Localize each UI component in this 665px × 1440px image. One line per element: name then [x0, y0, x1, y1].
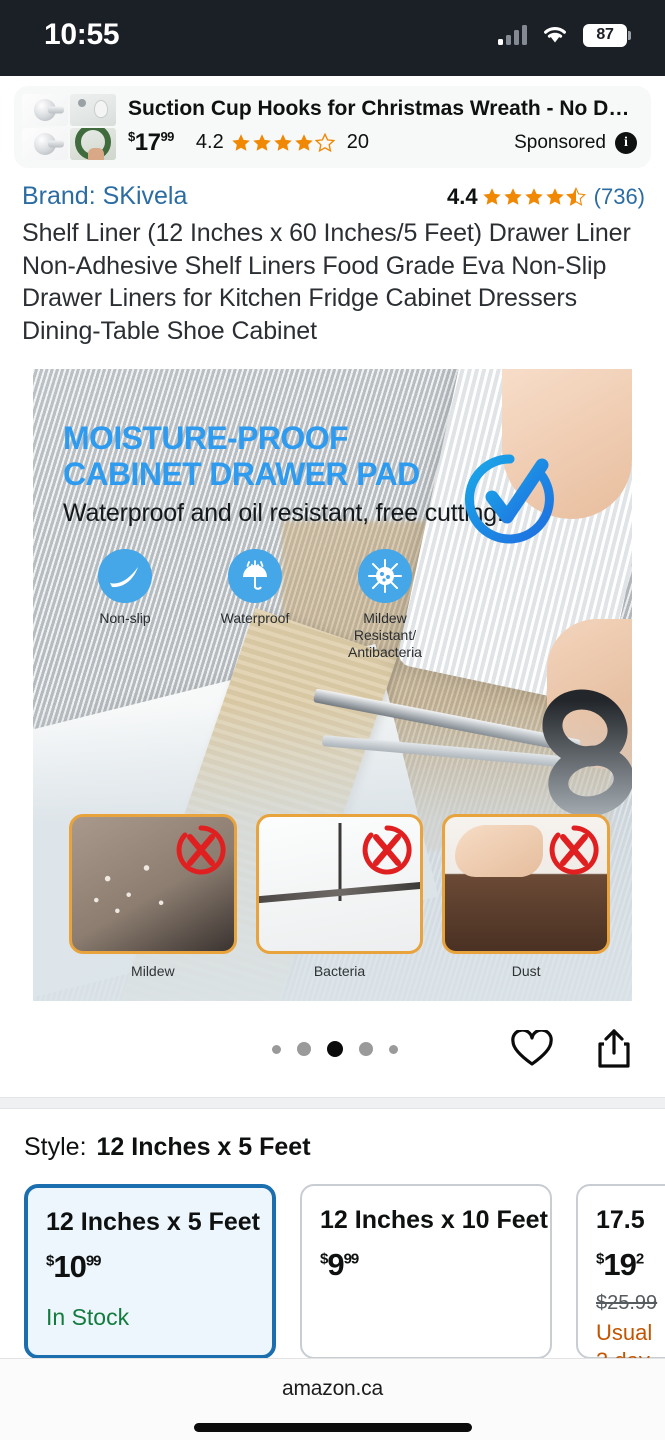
style-option-price: $999 — [320, 1247, 532, 1283]
umbrella-rain-icon — [228, 549, 282, 603]
carousel-dot[interactable] — [359, 1042, 373, 1056]
sponsored-label: Sponsored — [514, 132, 606, 154]
sponsored-ad-container[interactable]: Suction Cup Hooks for Christmas Wreath -… — [0, 76, 665, 168]
product-star-rating — [482, 187, 586, 207]
hero-problem-label: Bacteria — [256, 963, 424, 979]
ad-star-rating — [231, 133, 335, 153]
carousel-dots[interactable] — [272, 1041, 398, 1057]
cellular-signal-icon — [498, 25, 527, 45]
non-slip-icon — [98, 549, 152, 603]
style-option-list[interactable]: 12 Inches x 5 Feet $1099 In Stock 12 Inc… — [0, 1162, 665, 1359]
style-header: Style:12 Inches x 5 Feet — [0, 1133, 665, 1162]
hero-headline-line1: MOISTURE-PROOF — [63, 421, 420, 457]
style-option-price: $192 — [596, 1247, 665, 1283]
section-divider — [0, 1097, 665, 1109]
hero-problem-photo-mildew — [69, 814, 237, 954]
product-rating-value: 4.4 — [447, 184, 478, 210]
carousel-dot[interactable] — [297, 1042, 311, 1056]
product-thumbnail-wall — [70, 94, 116, 126]
hero-feature-item: Mildew Resistant/Antibacteria — [339, 549, 431, 660]
hero-problem-label: Dust — [442, 963, 610, 979]
ad-price: $1799 — [128, 129, 174, 157]
wifi-icon — [540, 22, 570, 49]
product-thumbnail-wreath — [70, 128, 116, 160]
hero-feature-list: Non-slip Waterproof — [79, 549, 431, 660]
hero-headline: MOISTURE-PROOF CABINET DRAWER PAD — [63, 421, 420, 493]
hero-problem-list: Mildew Bacteria — [69, 814, 610, 979]
red-x-icon — [174, 823, 228, 877]
hero-feature-label: Mildew Resistant/Antibacteria — [339, 610, 431, 660]
carousel-dot[interactable] — [272, 1045, 281, 1054]
ad-body: Suction Cup Hooks for Christmas Wreath -… — [128, 94, 637, 160]
product-hero-image[interactable]: MOISTURE-PROOF CABINET DRAWER PAD Waterp… — [33, 369, 632, 1001]
style-option-card-selected[interactable]: 12 Inches x 5 Feet $1099 In Stock — [24, 1184, 276, 1359]
hero-feature-label: Non-slip — [79, 610, 171, 627]
heart-icon[interactable] — [511, 1028, 553, 1070]
ad-rating: 4.2 20 — [196, 131, 369, 154]
hero-feature-item: Waterproof — [209, 549, 301, 660]
page-title: Shelf Liner (12 Inches x 60 Inches/5 Fee… — [0, 211, 665, 347]
browser-footer: amazon.ca — [0, 1358, 665, 1440]
hero-feature-item: Non-slip — [79, 549, 171, 660]
battery-icon: 87 — [583, 24, 631, 47]
status-bar-indicators: 87 — [498, 22, 631, 49]
share-icon[interactable] — [593, 1028, 635, 1070]
style-label: Style: — [24, 1133, 87, 1161]
style-option-card[interactable]: 12 Inches x 10 Feet $999 — [300, 1184, 552, 1359]
hero-problem-photo-dust — [442, 814, 610, 954]
status-bar-clock: 10:55 — [34, 18, 119, 52]
home-indicator[interactable] — [194, 1423, 472, 1432]
ad-review-count: 20 — [347, 131, 369, 154]
sponsored-label-group[interactable]: Sponsored i — [514, 132, 637, 154]
style-option-delivery: Usual3 day — [596, 1319, 665, 1359]
hero-feature-label: Waterproof — [209, 610, 301, 627]
style-option-name: 12 Inches x 5 Feet — [46, 1208, 254, 1237]
carousel-dot-active[interactable] — [327, 1041, 343, 1057]
carousel-dot[interactable] — [389, 1045, 398, 1054]
product-thumbnail-hook-2 — [22, 128, 68, 160]
battery-percent: 87 — [596, 26, 613, 44]
status-bar: 10:55 87 — [0, 0, 665, 76]
ad-thumbnail-grid — [22, 94, 116, 160]
style-option-was-price: $25.99 — [596, 1292, 665, 1315]
product-rating-group[interactable]: 4.4 (736) — [447, 184, 645, 210]
hero-headline-line2: CABINET DRAWER PAD — [63, 457, 420, 493]
style-selected-value: 12 Inches x 5 Feet — [97, 1133, 311, 1161]
hero-problem-item: Mildew — [69, 814, 237, 979]
carousel-controls — [0, 1001, 665, 1097]
red-x-icon — [547, 823, 601, 877]
style-option-name: 12 Inches x 10 Feet — [320, 1206, 532, 1235]
hero-problem-photo-bacteria — [256, 814, 424, 954]
style-option-card[interactable]: 17.5 $192 $25.99 Usual3 day — [576, 1184, 665, 1359]
style-option-price: $1099 — [46, 1249, 254, 1285]
hero-problem-item: Bacteria — [256, 814, 424, 979]
hero-subhead: Waterproof and oil resistant, free cutti… — [63, 499, 504, 528]
ad-rating-value: 4.2 — [196, 131, 224, 154]
ad-title[interactable]: Suction Cup Hooks for Christmas Wreath -… — [128, 97, 637, 121]
ad-meta-row: $1799 4.2 20 Sponsored i — [128, 129, 637, 157]
style-selector-section: Style:12 Inches x 5 Feet 12 Inches x 5 F… — [0, 1109, 665, 1359]
red-x-icon — [360, 823, 414, 877]
carousel-actions — [511, 1028, 635, 1070]
hero-problem-item: Dust — [442, 814, 610, 979]
blue-check-badge-icon — [462, 451, 558, 547]
info-icon[interactable]: i — [615, 132, 637, 154]
style-option-name: 17.5 — [596, 1206, 665, 1235]
hero-problem-label: Mildew — [69, 963, 237, 979]
virus-icon — [358, 549, 412, 603]
product-thumbnail-hook-1 — [22, 94, 68, 126]
sponsored-ad-card[interactable]: Suction Cup Hooks for Christmas Wreath -… — [14, 86, 651, 168]
style-option-stock-status: In Stock — [46, 1304, 129, 1331]
brand-link[interactable]: Brand: SKivela — [22, 182, 187, 211]
product-review-count[interactable]: (736) — [594, 184, 645, 210]
brand-rating-row: Brand: SKivela 4.4 (736) — [0, 168, 665, 211]
browser-domain-label[interactable]: amazon.ca — [282, 1377, 383, 1401]
